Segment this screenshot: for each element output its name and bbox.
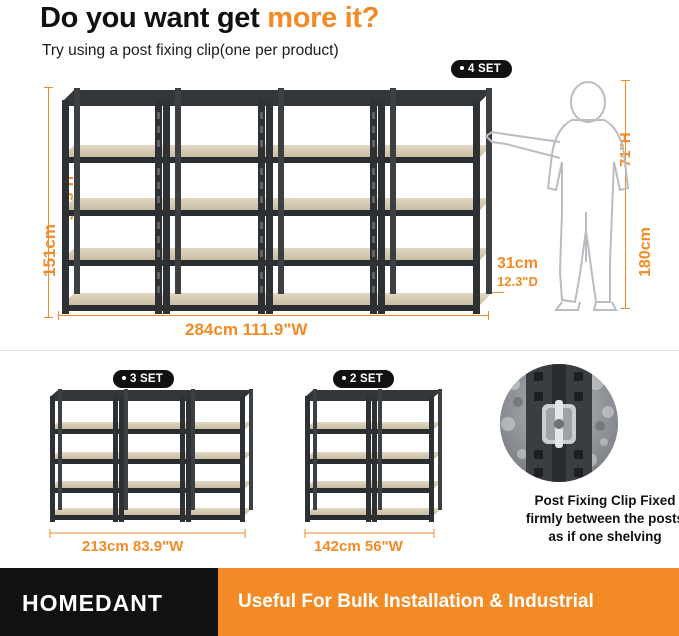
rack-4-set-drawing <box>0 62 679 350</box>
page-title: Do you want get more it? <box>40 2 379 35</box>
headline-accent: more it? <box>267 2 379 34</box>
footer-bar: HOMEDANT Useful For Bulk Installation & … <box>0 568 679 636</box>
rack-3-set <box>50 389 253 522</box>
clip-caption-line3: as if one shelving <box>495 528 679 546</box>
secondary-illustrations: 3 SET 2 SET <box>0 352 679 568</box>
width-label-3-set: 213cm 83.9"W <box>82 538 183 555</box>
post-fixing-clip-photo <box>500 364 618 482</box>
headline-part1: Do you want get <box>40 2 267 34</box>
product-infographic: Do you want get more it? Try using a pos… <box>0 0 679 636</box>
rack-2-set <box>305 389 442 522</box>
section-divider <box>0 350 679 351</box>
clip-caption-line1: Post Fixing Clip Fixed <box>495 492 679 510</box>
width-label-2-set: 142cm 56"W <box>314 538 403 555</box>
clip-caption: Post Fixing Clip Fixed firmly between th… <box>495 492 679 547</box>
subtitle: Try using a post fixing clip(one per pro… <box>42 42 339 60</box>
person-silhouette <box>486 82 628 310</box>
brand-logo: HOMEDANT <box>22 590 163 617</box>
main-illustration: 4 SET 151cm 59.5"H 284cm 111.9"W 31cm 12… <box>0 62 679 350</box>
clip-caption-line2: firmly between the posts <box>495 510 679 528</box>
footer-tagline: Useful For Bulk Installation & Industria… <box>238 591 594 613</box>
